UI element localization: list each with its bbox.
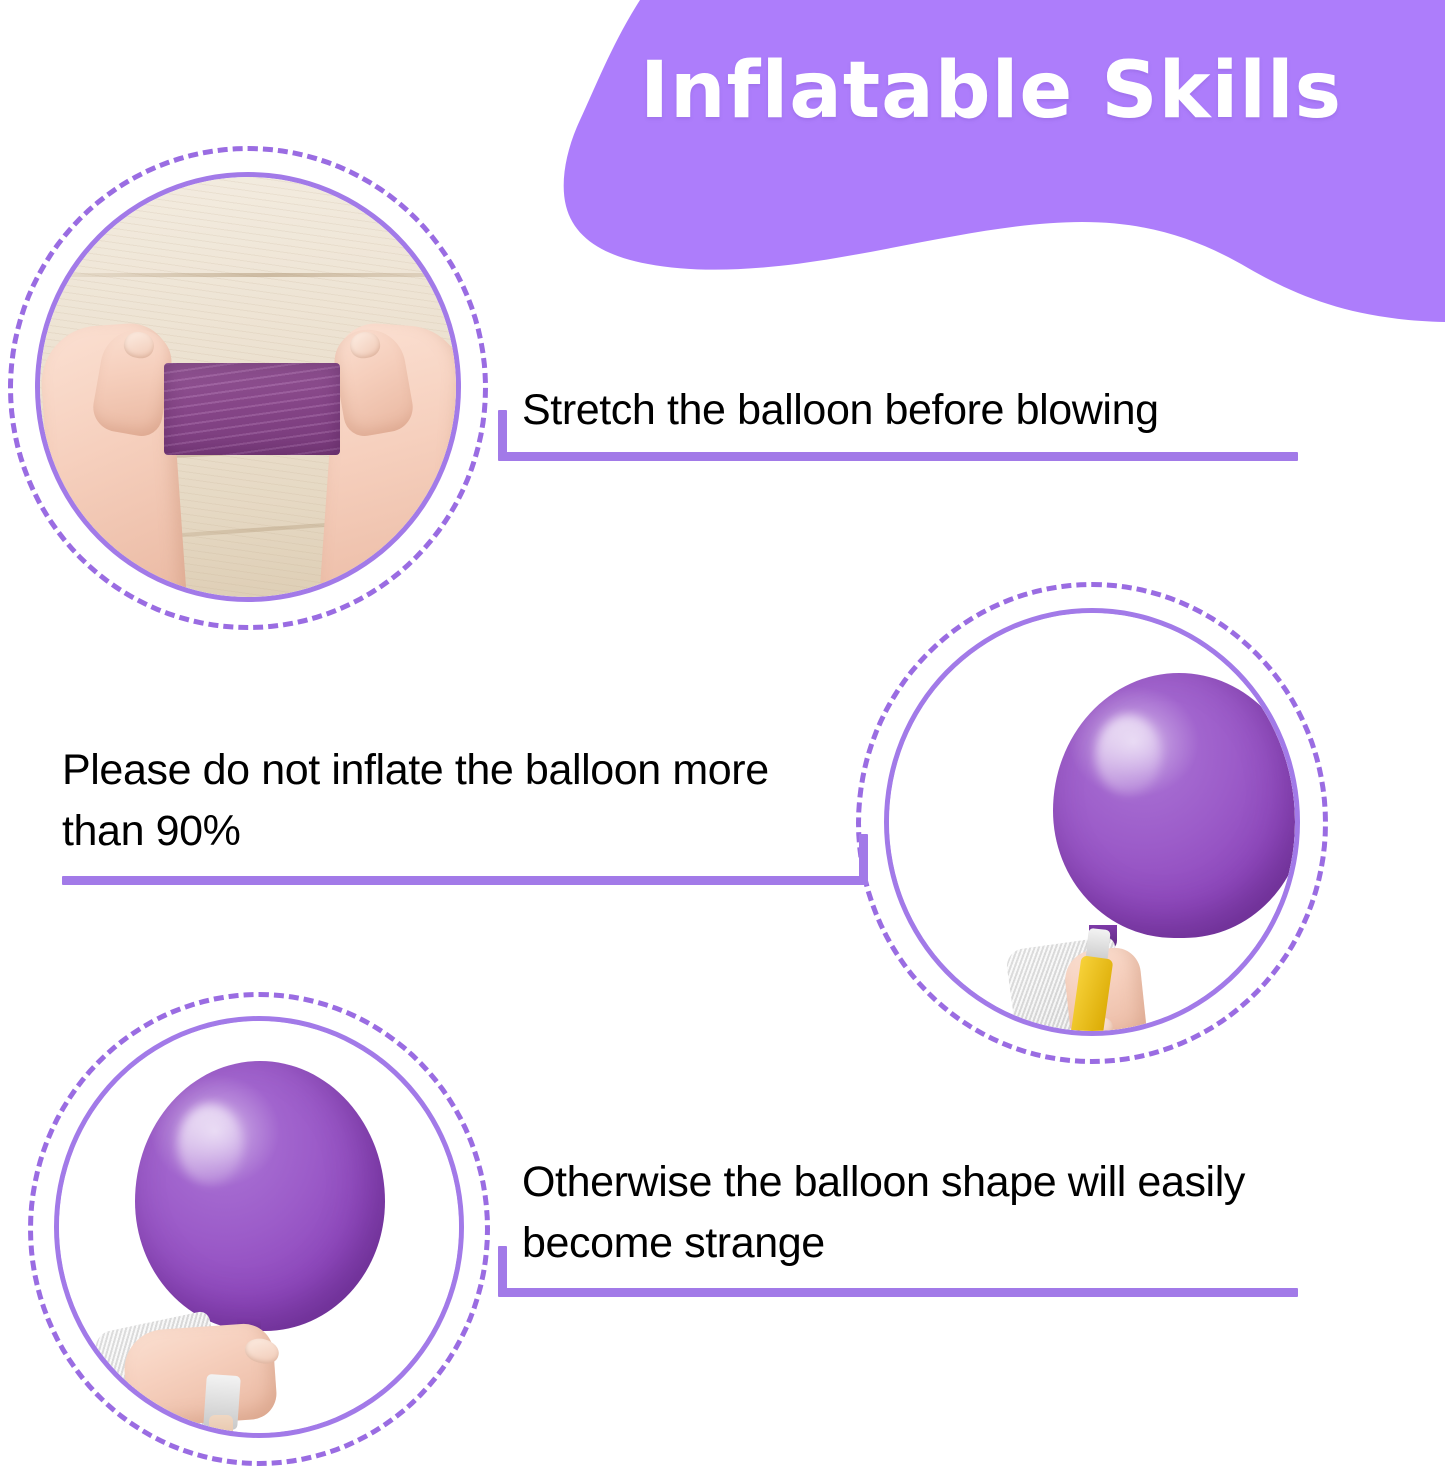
- stretched-balloon: [164, 363, 340, 455]
- step-3-image-medallion: [28, 992, 490, 1466]
- over-inflated-balloon-photo: [59, 1021, 459, 1433]
- step-2-rule: [62, 876, 868, 885]
- over-inflated-balloon: [135, 1061, 385, 1331]
- step-1-rule-tick: [498, 410, 507, 458]
- step-1-rule: [498, 452, 1298, 461]
- hands-stretching-balloon-photo: [40, 177, 456, 597]
- page-title: Inflatable Skills: [640, 36, 1445, 146]
- step-1-image-medallion: [8, 146, 488, 630]
- solid-ring: [54, 1016, 464, 1438]
- step-3-rule: [498, 1288, 1298, 1297]
- step-3-rule-tick: [498, 1246, 507, 1294]
- solid-ring: [884, 608, 1300, 1036]
- inflated-balloon: [1053, 673, 1295, 938]
- pump-tube: [209, 1415, 233, 1433]
- inflated-balloon-with-pump-photo: [889, 613, 1295, 1031]
- step-2-caption-block: Please do not inflate the balloon more t…: [62, 740, 882, 862]
- step-2-rule-tick: [859, 834, 868, 882]
- infographic-page: Inflatable Skills: [0, 0, 1445, 1476]
- wood-seam: [40, 273, 456, 277]
- step-1-caption-text: Stretch the balloon before blowing: [498, 380, 1308, 441]
- step-3-caption-text: Otherwise the balloon shape will easily …: [498, 1152, 1312, 1274]
- balloon-highlight: [1096, 715, 1162, 795]
- balloon-highlight: [178, 1104, 243, 1185]
- step-2-caption-text: Please do not inflate the balloon more t…: [62, 740, 870, 862]
- step-2-image-medallion: [856, 582, 1328, 1064]
- solid-ring: [35, 172, 461, 602]
- step-1-caption-block: Stretch the balloon before blowing: [498, 380, 1308, 441]
- step-3-caption-block: Otherwise the balloon shape will easily …: [498, 1152, 1308, 1274]
